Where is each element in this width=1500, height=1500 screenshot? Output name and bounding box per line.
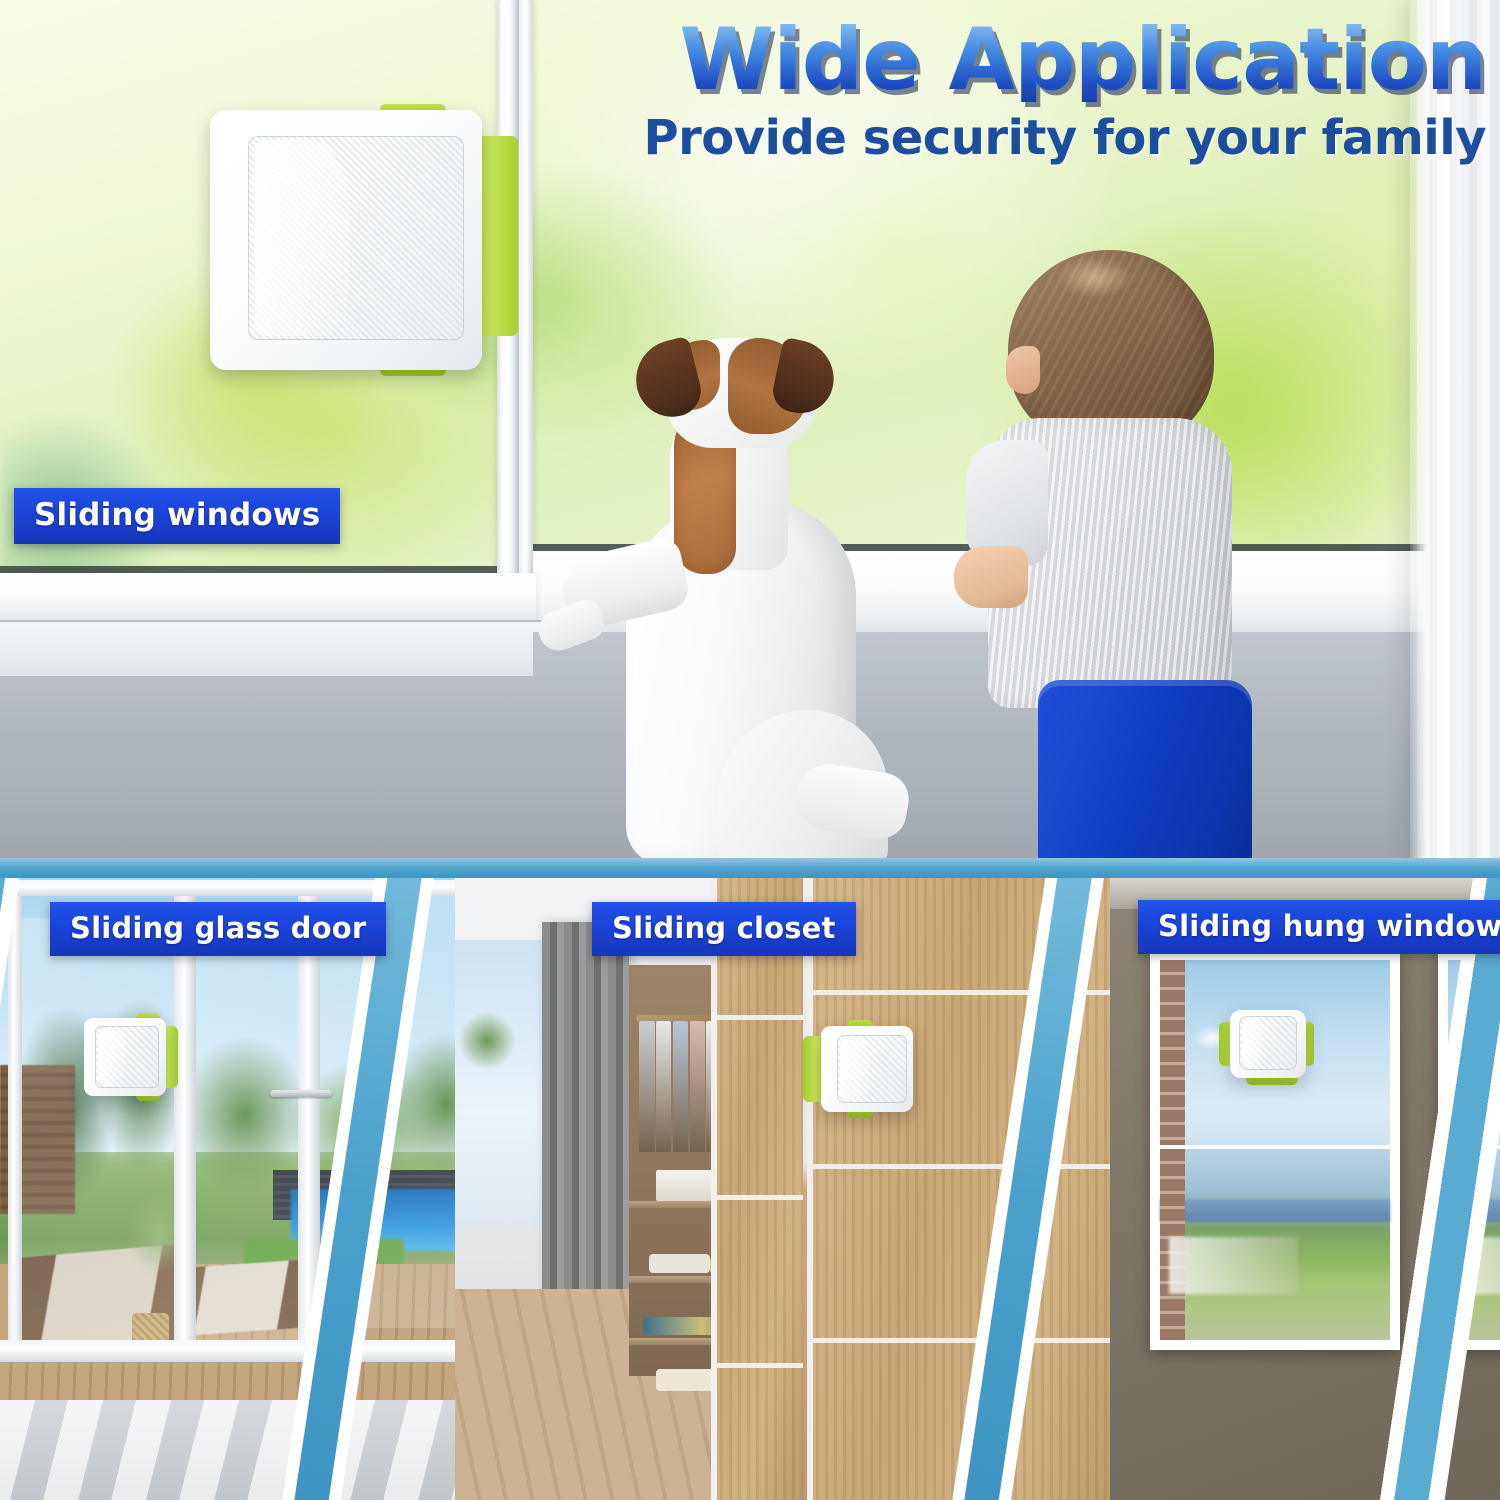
window-sill-left — [0, 573, 536, 625]
badge-sliding-glass-door: Sliding glass door — [50, 902, 386, 956]
window-sill-lip — [0, 620, 554, 684]
indoor-floor — [0, 1400, 470, 1500]
lock-body — [210, 110, 482, 370]
bedroom-curtain — [542, 922, 629, 1308]
door-handle[interactable] — [270, 1090, 332, 1097]
window-lock-hero[interactable] — [210, 110, 510, 370]
lock-gloss-highlight — [840, 1037, 870, 1101]
brick-wall-reflection — [1160, 960, 1185, 1145]
door-frame-track — [0, 1340, 470, 1362]
lower-glass — [1160, 1149, 1390, 1340]
hanging-shirt — [656, 1021, 671, 1152]
child-ear — [1006, 346, 1040, 394]
page-subtitle: Provide security for your family — [606, 110, 1486, 166]
lower-sash[interactable] — [1160, 1149, 1390, 1340]
window-lock-hung-window[interactable] — [1230, 1010, 1316, 1082]
badge-sliding-windows: Sliding windows — [14, 488, 340, 544]
door-seam — [807, 1338, 1125, 1343]
headline-block: Wide Application Provide security for yo… — [606, 18, 1486, 166]
hanging-shirt — [690, 1021, 705, 1152]
badge-sliding-closet: Sliding closet — [592, 902, 856, 956]
door-seam — [711, 1363, 803, 1368]
lock-body — [84, 1018, 166, 1096]
closet-door-left[interactable] — [711, 878, 803, 1500]
glass-pane-left — [22, 918, 174, 1348]
child-illustration — [960, 250, 1320, 866]
door-seam — [807, 1164, 1125, 1169]
child-shorts — [1038, 680, 1252, 866]
page-title: Wide Application — [606, 18, 1486, 102]
hero-photo: Wide Application Provide security for yo… — [0, 0, 1500, 866]
glass-pane-center — [196, 926, 306, 1346]
door-seam-vertical — [711, 878, 717, 1500]
window-mullion-left-inner — [519, 0, 533, 600]
window-lock-glass-door[interactable] — [84, 1018, 180, 1096]
window-lock-closet[interactable] — [817, 1026, 923, 1112]
hanging-shirt — [639, 1021, 654, 1152]
lock-gloss-highlight — [98, 1028, 126, 1086]
lock-gloss-highlight — [254, 140, 350, 336]
lock-gloss-highlight — [1242, 1018, 1264, 1068]
closet-shoes-1 — [649, 1254, 709, 1273]
door-seam-vertical — [807, 878, 813, 1500]
child-arm — [954, 546, 1028, 608]
panel-sliding-hung-windows — [1110, 878, 1500, 1500]
door-frame-post-2 — [174, 892, 196, 1350]
hanging-shirt — [673, 1021, 688, 1152]
section-divider-band — [0, 858, 1500, 880]
poster-canvas: Wide Application Provide security for yo… — [0, 0, 1500, 1500]
door-seam — [711, 1195, 803, 1200]
lock-body — [1230, 1010, 1306, 1078]
application-panels-row: Sliding glass door Sliding closet Slidin… — [0, 878, 1500, 1500]
badge-sliding-hung-windows: Sliding hung windows — [1138, 900, 1500, 954]
door-seam — [711, 1015, 803, 1020]
dog-illustration — [600, 330, 920, 866]
glass-edge-left — [0, 566, 497, 573]
lock-body — [821, 1026, 913, 1112]
brick-wall-reflection — [1160, 1149, 1185, 1340]
